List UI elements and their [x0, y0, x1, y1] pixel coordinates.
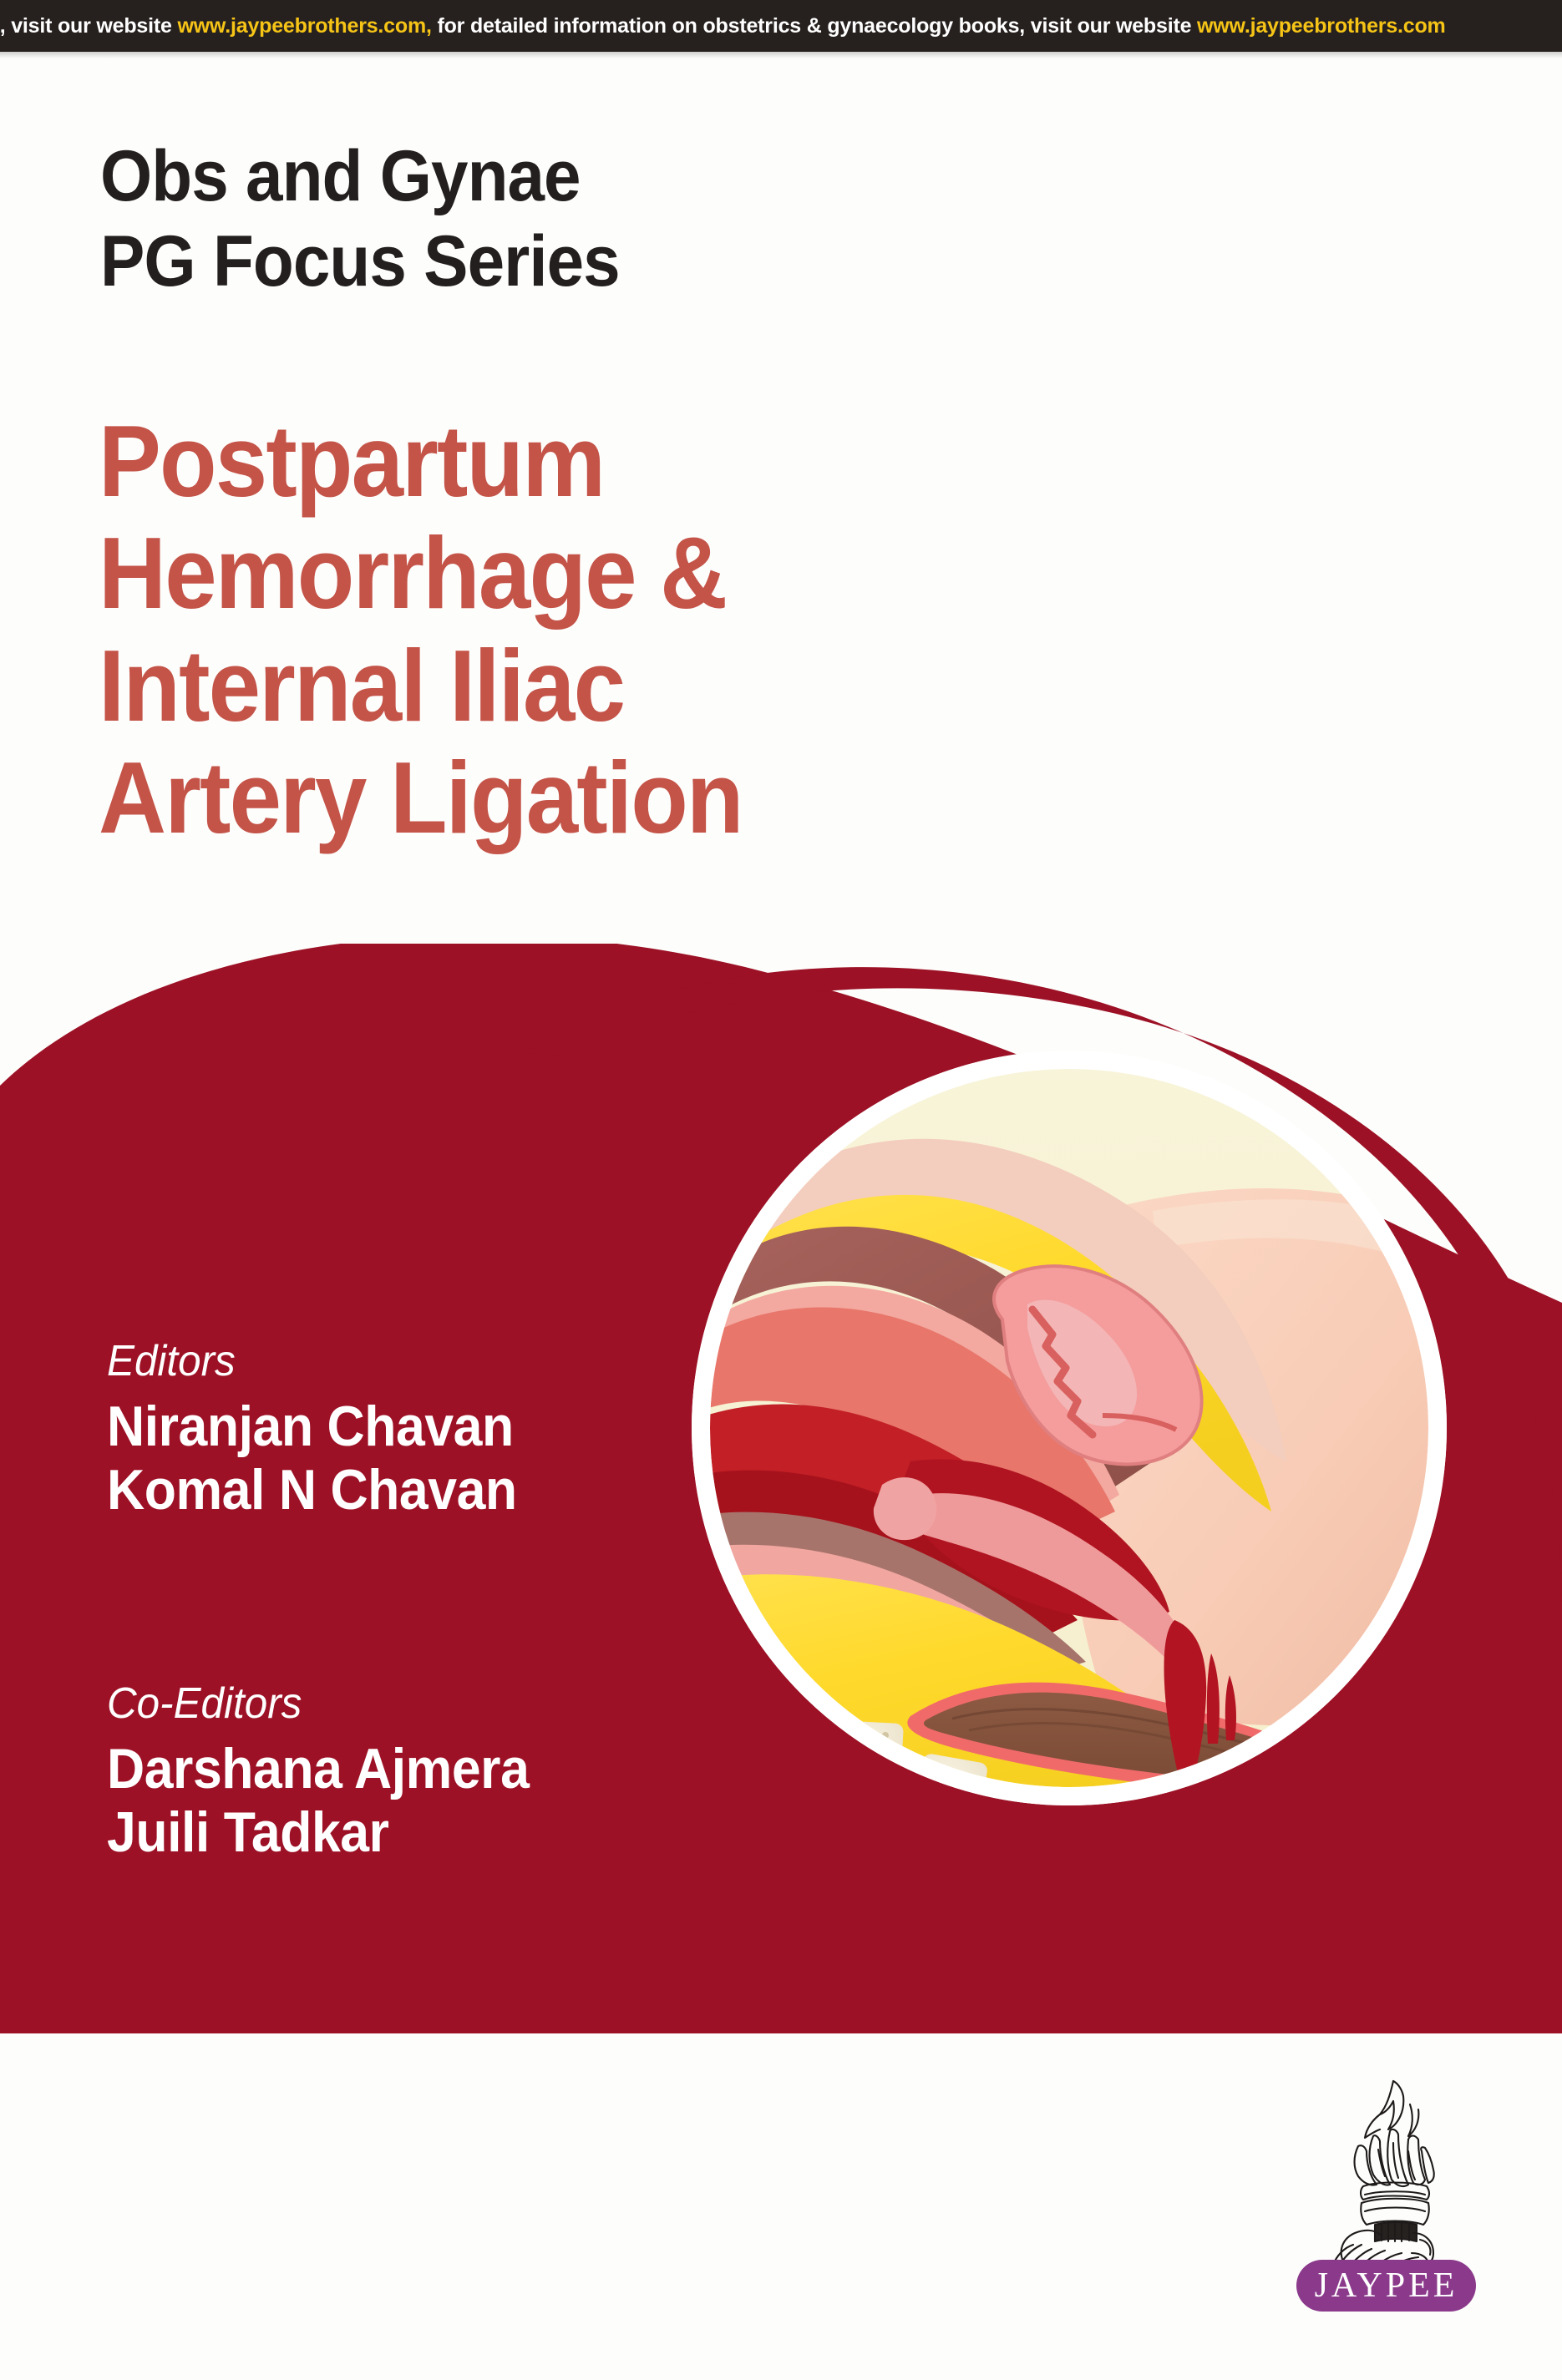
editors-label: Editors — [107, 1336, 694, 1386]
book-title-line-3: Internal Iliac — [99, 634, 1174, 737]
publisher-name-badge: JAYPEE — [1296, 2260, 1476, 2312]
series-title: Obs and Gynae PG Focus Series — [100, 140, 1186, 310]
series-title-line-2: PG Focus Series — [100, 225, 1110, 299]
promo-text-middle: for detailed information on obstetrics &… — [432, 14, 1197, 38]
book-title-line-1: Postpartum — [99, 409, 1174, 513]
co-editor-name-2: Juili Tadkar — [107, 1800, 676, 1864]
book-title: Postpartum Hemorrhage & Internal Iliac A… — [99, 409, 1268, 858]
book-title-line-4: Artery Ligation — [99, 746, 1174, 849]
co-editors-section: Co-Editors Darshana Ajmera Juili Tadkar — [107, 1679, 725, 1864]
promo-banner: s, visit our website www.jaypeebrothers.… — [0, 0, 1562, 52]
promo-url-1[interactable]: www.jaypeebrothers.com, — [177, 14, 431, 38]
co-editors-label: Co-Editors — [107, 1679, 694, 1729]
publisher-name: JAYPEE — [1315, 2266, 1458, 2306]
promo-banner-text: s, visit our website www.jaypeebrothers.… — [0, 0, 1446, 52]
promo-banner-shadow — [0, 52, 1562, 58]
hand-holding-torch-icon — [1286, 2069, 1495, 2270]
co-editor-name-1: Darshana Ajmera — [107, 1737, 676, 1800]
pelvic-cross-section-illustration — [635, 960, 1562, 1946]
series-title-line-1: Obs and Gynae — [100, 140, 1110, 214]
book-cover: s, visit our website www.jaypeebrothers.… — [0, 0, 1562, 2380]
editor-name-1: Niranjan Chavan — [107, 1395, 676, 1458]
promo-text-before: s, visit our website — [0, 14, 177, 38]
editors-section: Editors Niranjan Chavan Komal N Chavan — [107, 1336, 725, 1522]
publisher-logo: JAYPEE — [1286, 2069, 1495, 2337]
editor-name-2: Komal N Chavan — [107, 1458, 676, 1522]
book-title-line-2: Hemorrhage & — [99, 521, 1174, 625]
promo-url-2[interactable]: www.jaypeebrothers.com — [1197, 14, 1446, 38]
